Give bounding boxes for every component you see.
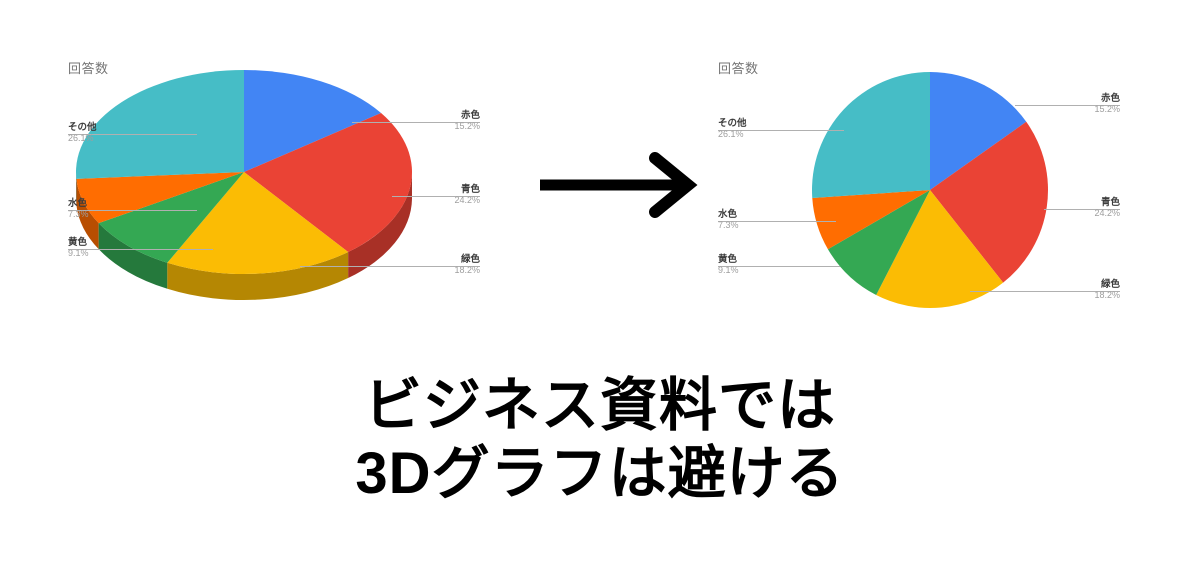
right-chart-panel: 回答数 その他 26.1% 水色 7.3% 黄色 9.1% 赤色 15.2% 青… [640,0,1200,330]
callout-aoiro: 青色 24.2% [420,185,480,206]
callout-kiiro-2-pct: 9.1% [718,266,739,276]
callout-mizuiro: 水色 7.3% [68,199,89,220]
callout-akairo: 赤色 15.2% [420,111,480,132]
pie-chart-2d [810,70,1050,310]
callout-midori: 緑色 18.2% [420,255,480,276]
callout-kiiro-pct: 9.1% [68,249,89,259]
callout-sonota-name: その他 [68,123,97,133]
caption-line-1: ビジネス資料では [0,372,1200,440]
right-chart-title: 回答数 [718,58,759,77]
callout-kiiro-2-name: 黄色 [718,255,739,265]
callout-aoiro-2: 青色 24.2% [1060,198,1120,219]
callout-kiiro: 黄色 9.1% [68,238,89,259]
callout-aoiro-pct: 24.2% [420,196,480,206]
callout-sonota-2-pct: 26.1% [718,130,747,140]
slide-canvas: 回答数 その他 26.1% 水色 7.3% 黄色 9.1% 赤色 15.2% 青… [0,0,1200,581]
left-chart-panel: 回答数 その他 26.1% 水色 7.3% 黄色 9.1% 赤色 15.2% 青… [0,0,560,330]
callout-midori-pct: 18.2% [420,266,480,276]
callout-midori-name: 緑色 [420,255,480,265]
callout-akairo-2: 赤色 15.2% [1060,94,1120,115]
callout-kiiro-name: 黄色 [68,238,89,248]
callout-midori-2-pct: 18.2% [1060,291,1120,301]
caption-line-2: 3Dグラフは避ける [0,440,1200,508]
caption-block: ビジネス資料では 3Dグラフは避ける [0,372,1200,509]
callout-sonota-pct: 26.1% [68,134,97,144]
callout-mizuiro-pct: 7.3% [68,210,89,220]
callout-aoiro-2-name: 青色 [1060,198,1120,208]
callout-kiiro-2: 黄色 9.1% [718,255,739,276]
callout-akairo-2-name: 赤色 [1060,94,1120,104]
callout-mizuiro-name: 水色 [68,199,89,209]
leader-line-kiiro [68,249,213,250]
callout-midori-2-name: 緑色 [1060,280,1120,290]
callout-midori-2: 緑色 18.2% [1060,280,1120,301]
callout-akairo-2-pct: 15.2% [1060,105,1120,115]
callout-mizuiro-2-pct: 7.3% [718,221,739,231]
callout-mizuiro-2-name: 水色 [718,210,739,220]
callout-akairo-name: 赤色 [420,111,480,121]
callout-sonota-2: その他 26.1% [718,119,747,140]
callout-sonota-2-name: その他 [718,119,747,129]
callout-aoiro-2-pct: 24.2% [1060,209,1120,219]
callout-aoiro-name: 青色 [420,185,480,195]
callout-mizuiro-2: 水色 7.3% [718,210,739,231]
left-chart-title: 回答数 [68,58,109,77]
callout-akairo-pct: 15.2% [420,122,480,132]
callout-sonota: その他 26.1% [68,123,97,144]
